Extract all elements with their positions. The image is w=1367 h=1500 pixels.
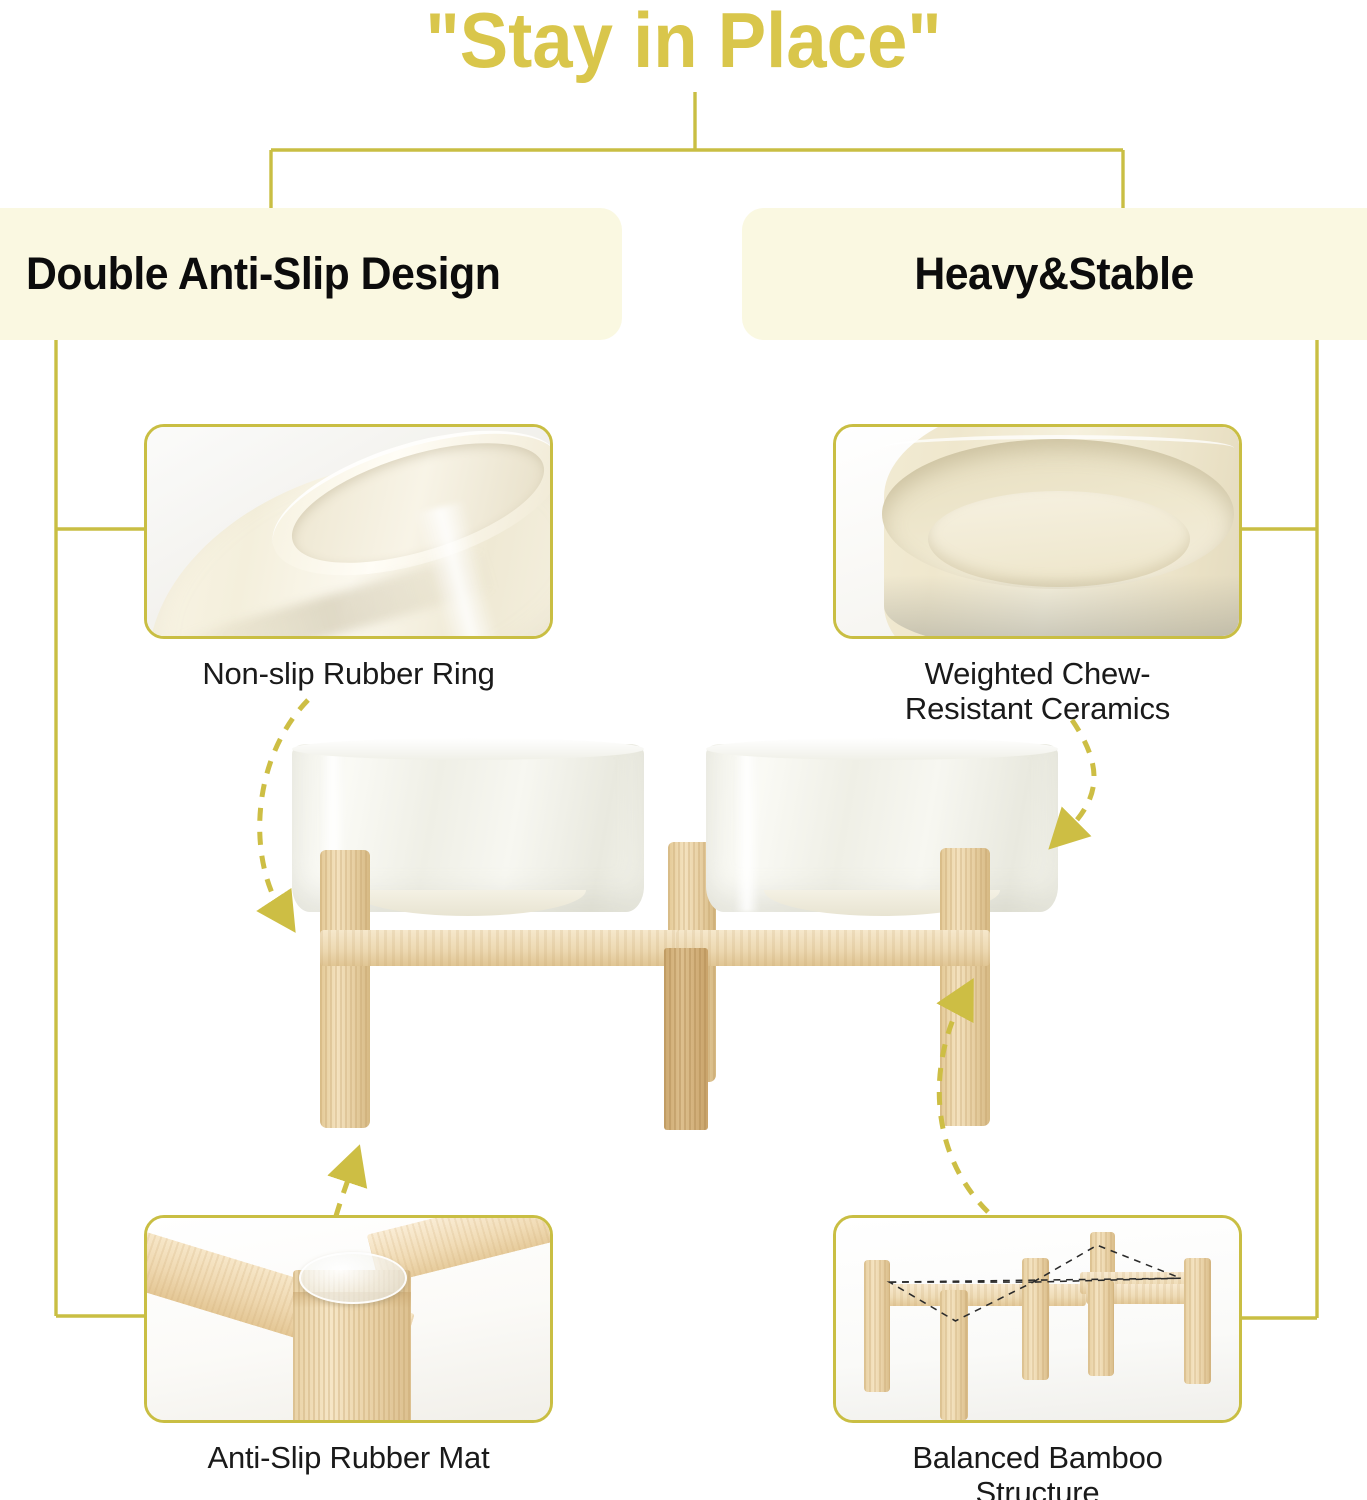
header-card-heavy-stable: Heavy&Stable: [742, 208, 1367, 340]
bowl-left-rim: [292, 738, 644, 760]
photo-bowl-interior: [836, 427, 1239, 636]
bowl-right-rim: [706, 738, 1058, 760]
feature-photo-weighted-chew-resistant-ceramics: [833, 424, 1242, 639]
photo-bamboo-stand-balance: [836, 1218, 1239, 1420]
feature-caption-non-slip-rubber-ring: Non-slip Rubber Ring: [144, 656, 553, 691]
feature-caption-balanced-bamboo-structure: Balanced Bamboo Structure: [833, 1440, 1242, 1500]
header-card-double-anti-slip: Double Anti-Slip Design: [0, 208, 622, 340]
infographic-root: "Stay in Place" Double Anti-Slip Design …: [0, 0, 1367, 1500]
arrow-to-leg-left-foot: [336, 1168, 352, 1216]
ceramic-bowl-right: [706, 744, 1058, 912]
feature-photo-balanced-bamboo-structure: [833, 1215, 1242, 1423]
page-title: "Stay in Place": [48, 0, 1319, 86]
feature-caption-anti-slip-rubber-mat: Anti-Slip Rubber Mat: [144, 1440, 553, 1475]
feature-caption-weighted-chew-resistant-ceramics: Weighted Chew- Resistant Ceramics: [833, 656, 1242, 727]
bowl-left-foot: [350, 890, 586, 916]
stand-crossbar-right: [676, 930, 990, 966]
header-label-double-anti-slip: Double Anti-Slip Design: [26, 248, 500, 300]
feature-photo-non-slip-rubber-ring: [144, 424, 553, 639]
stand-center-post: [664, 948, 708, 1130]
feature-photo-anti-slip-rubber-mat: [144, 1215, 553, 1423]
photo-bowl-rim-underside: [147, 427, 550, 636]
stand-crossbar-left: [320, 930, 680, 966]
balance-triangle-overlay: [836, 1218, 1239, 1420]
photo-leg-rubber-pad: [147, 1218, 550, 1420]
header-label-heavy-stable: Heavy&Stable: [915, 248, 1194, 300]
product-hero-image: [258, 730, 1108, 1150]
stand-leg-left-front: [320, 850, 370, 1128]
stand-leg-right-front: [940, 848, 990, 1126]
